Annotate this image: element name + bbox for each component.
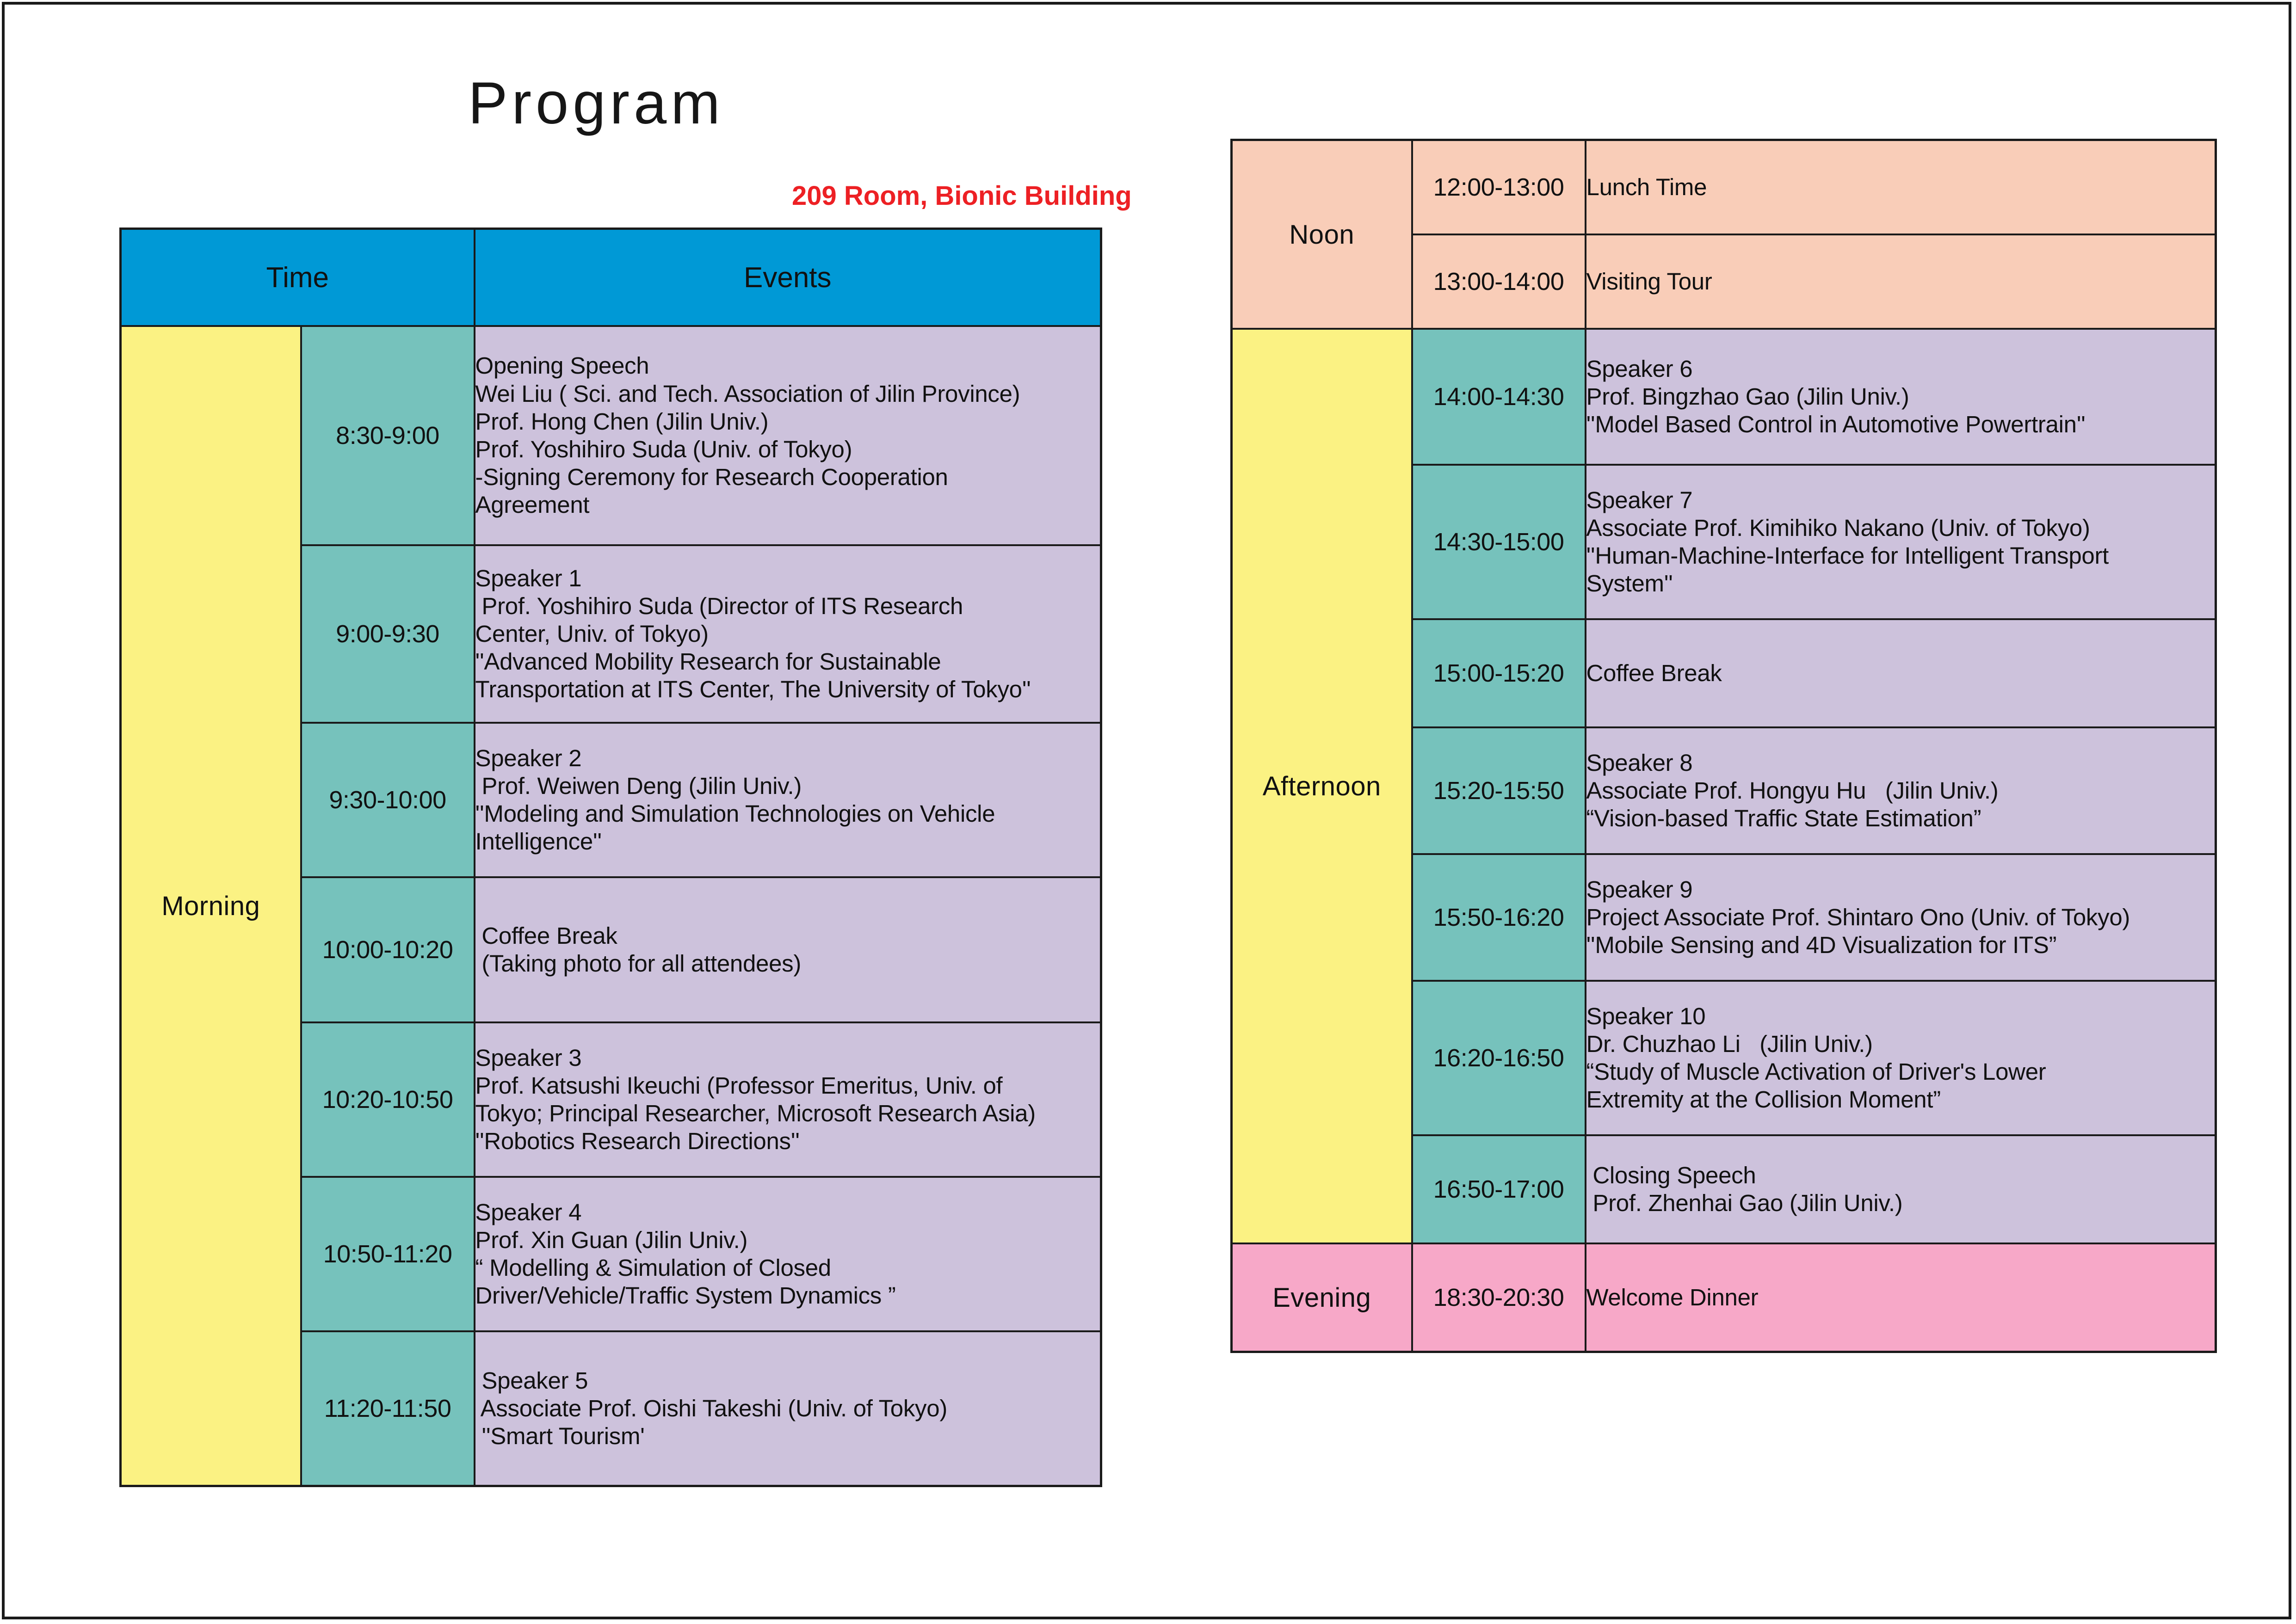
table-row: Noon 12:00-13:00 Lunch Time (1232, 140, 2216, 235)
event-cell: Coffee Break (1586, 619, 2216, 727)
event-cell: Speaker 9 Project Associate Prof. Shinta… (1586, 854, 2216, 981)
event-line: Speaker 7 (1586, 486, 2215, 514)
time-cell: 15:20-15:50 (1412, 727, 1586, 854)
time-cell: 10:20-10:50 (301, 1022, 475, 1177)
event-line: Associate Prof. Oishi Takeshi (Univ. of … (475, 1395, 1100, 1422)
event-line: ''Model Based Control in Automotive Powe… (1586, 411, 2215, 438)
event-line: Agreement (475, 491, 1100, 519)
event-line: Speaker 6 (1586, 355, 2215, 383)
event-line: “Study of Muscle Activation of Driver's … (1586, 1058, 2215, 1086)
period-label-evening: Evening (1232, 1243, 1412, 1352)
event-line: Lunch Time (1586, 173, 2215, 201)
event-line: System'' (1586, 570, 2215, 597)
event-line: Speaker 10 (1586, 1003, 2215, 1030)
event-line: Closing Speech (1586, 1162, 2215, 1189)
event-line: Coffee Break (475, 922, 1100, 950)
page-title: Program (468, 69, 724, 137)
time-cell: 10:00-10:20 (301, 877, 475, 1022)
event-cell: Speaker 5 Associate Prof. Oishi Takeshi … (475, 1331, 1101, 1486)
table-row: Morning 8:30-9:00 Opening Speech Wei Liu… (121, 326, 1101, 545)
time-cell: 15:00-15:20 (1412, 619, 1586, 727)
time-cell: 9:00-9:30 (301, 545, 475, 723)
event-line: Intelligence'' (475, 828, 1100, 855)
event-line: Tokyo; Principal Researcher, Microsoft R… (475, 1100, 1100, 1127)
period-label-noon: Noon (1232, 140, 1412, 329)
event-line: Dr. Chuzhao Li (Jilin Univ.) (1586, 1030, 2215, 1058)
event-cell: Welcome Dinner (1586, 1243, 2216, 1352)
event-cell: Lunch Time (1586, 140, 2216, 235)
event-line: ''Human-Machine-Interface for Intelligen… (1586, 542, 2215, 570)
event-cell: Closing Speech Prof. Zhenhai Gao (Jilin … (1586, 1135, 2216, 1243)
event-line: Project Associate Prof. Shintaro Ono (Un… (1586, 904, 2215, 931)
table-row: Afternoon 14:00-14:30 Speaker 6 Prof. Bi… (1232, 329, 2216, 465)
event-cell: Speaker 7 Associate Prof. Kimihiko Nakan… (1586, 465, 2216, 619)
event-line: Prof. Bingzhao Gao (Jilin Univ.) (1586, 383, 2215, 411)
event-cell: Speaker 8 Associate Prof. Hongyu Hu (Jil… (1586, 727, 2216, 854)
time-cell: 10:50-11:20 (301, 1177, 475, 1331)
event-line: Speaker 9 (1586, 876, 2215, 904)
event-cell: Visiting Tour (1586, 234, 2216, 329)
event-line: Opening Speech (475, 352, 1100, 380)
event-line: Prof. Xin Guan (Jilin Univ.) (475, 1226, 1100, 1254)
event-line: Speaker 2 (475, 744, 1100, 772)
event-line: Extremity at the Collision Moment” (1586, 1086, 2215, 1113)
time-cell: 14:30-15:00 (1412, 465, 1586, 619)
period-label-morning: Morning (121, 326, 301, 1486)
time-cell: 15:50-16:20 (1412, 854, 1586, 981)
event-line: Speaker 8 (1586, 749, 2215, 777)
time-cell: 12:00-13:00 (1412, 140, 1586, 235)
venue-location-note: 209 Room, Bionic Building (792, 180, 1132, 211)
event-line: Welcome Dinner (1586, 1284, 2215, 1311)
event-line: Associate Prof. Kimihiko Nakano (Univ. o… (1586, 514, 2215, 542)
table-header-row: Time Events (121, 229, 1101, 326)
time-cell: 9:30-10:00 (301, 723, 475, 877)
event-line: Speaker 4 (475, 1199, 1100, 1226)
column-header-time: Time (121, 229, 475, 326)
time-cell: 14:00-14:30 (1412, 329, 1586, 465)
event-line: Driver/Vehicle/Traffic System Dynamics ” (475, 1282, 1100, 1310)
event-line: Speaker 3 (475, 1044, 1100, 1072)
event-cell: Opening Speech Wei Liu ( Sci. and Tech. … (475, 326, 1101, 545)
event-line: Prof. Hong Chen (Jilin Univ.) (475, 408, 1100, 436)
event-cell: Speaker 6 Prof. Bingzhao Gao (Jilin Univ… (1586, 329, 2216, 465)
column-header-events: Events (475, 229, 1101, 326)
time-cell: 16:20-16:50 (1412, 981, 1586, 1135)
event-line: (Taking photo for all attendees) (475, 950, 1100, 978)
period-label-afternoon: Afternoon (1232, 329, 1412, 1243)
event-line: Coffee Break (1586, 659, 2215, 687)
event-cell: Speaker 1 Prof. Yoshihiro Suda (Director… (475, 545, 1101, 723)
event-line: ''Robotics Research Directions'' (475, 1127, 1100, 1155)
event-line: Associate Prof. Hongyu Hu (Jilin Univ.) (1586, 777, 2215, 805)
event-line: Transportation at ITS Center, The Univer… (475, 676, 1100, 703)
event-line: ''Mobile Sensing and 4D Visualization fo… (1586, 931, 2215, 959)
event-line: Prof. Weiwen Deng (Jilin Univ.) (475, 772, 1100, 800)
event-cell: Coffee Break (Taking photo for all atten… (475, 877, 1101, 1022)
time-cell: 18:30-20:30 (1412, 1243, 1586, 1352)
event-line: Prof. Yoshihiro Suda (Director of ITS Re… (475, 592, 1100, 620)
event-line: Visiting Tour (1586, 268, 2215, 295)
event-line: Wei Liu ( Sci. and Tech. Association of … (475, 380, 1100, 408)
event-line: Speaker 1 (475, 565, 1100, 592)
event-line: Speaker 5 (475, 1367, 1100, 1395)
event-line: Prof. Zhenhai Gao (Jilin Univ.) (1586, 1189, 2215, 1217)
event-line: ''Modeling and Simulation Technologies o… (475, 800, 1100, 828)
event-line: Prof. Yoshihiro Suda (Univ. of Tokyo) (475, 436, 1100, 463)
table-row: Evening 18:30-20:30 Welcome Dinner (1232, 1243, 2216, 1352)
event-line: ''Advanced Mobility Research for Sustain… (475, 648, 1100, 676)
event-line: -Signing Ceremony for Research Cooperati… (475, 463, 1100, 491)
event-cell: Speaker 10 Dr. Chuzhao Li (Jilin Univ.) … (1586, 981, 2216, 1135)
time-cell: 16:50-17:00 (1412, 1135, 1586, 1243)
event-line: Center, Univ. of Tokyo) (475, 620, 1100, 648)
morning-schedule-table: Time Events Morning 8:30-9:00 Opening Sp… (119, 228, 1102, 1487)
time-cell: 8:30-9:00 (301, 326, 475, 545)
event-line: ''Smart Tourism' (475, 1422, 1100, 1450)
event-line: Prof. Katsushi Ikeuchi (Professor Emerit… (475, 1072, 1100, 1100)
event-cell: Speaker 2 Prof. Weiwen Deng (Jilin Univ.… (475, 723, 1101, 877)
event-cell: Speaker 4 Prof. Xin Guan (Jilin Univ.) “… (475, 1177, 1101, 1331)
event-cell: Speaker 3 Prof. Katsushi Ikeuchi (Profes… (475, 1022, 1101, 1177)
time-cell: 13:00-14:00 (1412, 234, 1586, 329)
afternoon-evening-schedule-table: Noon 12:00-13:00 Lunch Time 13:00-14:00 … (1230, 139, 2217, 1353)
event-line: “ Modelling & Simulation of Closed (475, 1254, 1100, 1282)
time-cell: 11:20-11:50 (301, 1331, 475, 1486)
event-line: “Vision-based Traffic State Estimation” (1586, 805, 2215, 832)
